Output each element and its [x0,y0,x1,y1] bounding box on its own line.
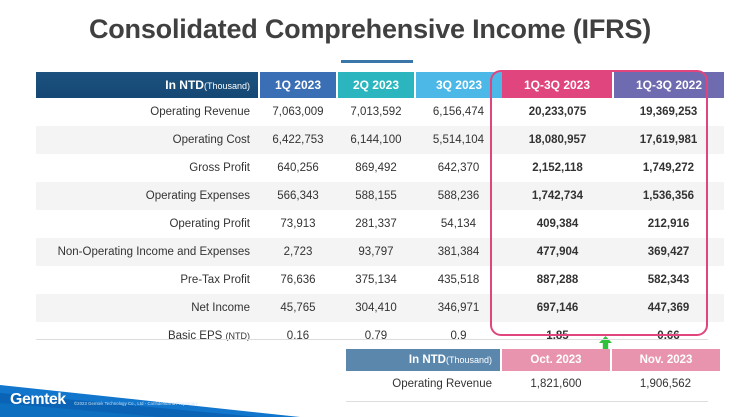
cell-non-operating-1q3q2022: 369,427 [613,238,724,266]
cell-net-income-2q2023: 304,410 [337,294,415,322]
table-row: Operating Revenue 7,063,009 7,013,592 6,… [36,98,724,126]
cell-non-operating-1q3q2023: 477,904 [502,238,613,266]
table-row: Operating Cost 6,422,753 6,144,100 5,514… [36,126,724,154]
month-header-in-ntd-label: In NTD [409,354,446,366]
cell-basic-eps-1q3q2023-value: 1.85 [546,330,568,342]
table-row: Non-Operating Income and Expenses 2,723 … [36,238,724,266]
row-label-net-income: Net Income [36,294,259,322]
cell-operating-revenue-1q3q2022: 19,369,253 [613,98,724,126]
month-header-in-ntd-unit: (Thousand) [446,355,492,365]
table-row: Basic EPS (NTD) 0.16 0.79 0.9 1.85 0.66 [36,322,724,350]
cell-operating-profit-2q2023: 281,337 [337,210,415,238]
table-bottom-divider [36,339,708,340]
cell-operating-expenses-1q3q2022: 1,536,356 [613,182,724,210]
cell-non-operating-2q2023: 93,797 [337,238,415,266]
cell-operating-cost-3q2023: 5,514,104 [415,126,502,154]
table-row: Operating Expenses 566,343 588,155 588,2… [36,182,724,210]
cell-operating-profit-1q3q2022: 212,916 [613,210,724,238]
copyright-text: ©2023 Gemtek Technology Co., Ltd - Confi… [74,401,198,406]
cell-operating-revenue-2q2023: 7,013,592 [337,98,415,126]
cell-gross-profit-1q3q2023: 2,152,118 [502,154,613,182]
cell-pre-tax-profit-1q2023: 76,636 [259,266,337,294]
cell-operating-revenue-nov-2023: 1,906,562 [611,371,720,397]
table-row: Operating Profit 73,913 281,337 54,134 4… [36,210,724,238]
table-header-row: In NTD(Thousand) 1Q 2023 2Q 2023 3Q 2023… [36,72,724,98]
row-label-pre-tax-profit: Pre-Tax Profit [36,266,259,294]
cell-basic-eps-1q2023: 0.16 [259,322,337,350]
header-cell-in-ntd: In NTD(Thousand) [36,72,259,98]
cell-net-income-3q2023: 346,971 [415,294,502,322]
cell-operating-revenue-1q2023: 7,063,009 [259,98,337,126]
monthly-revenue-table: In NTD(Thousand) Oct. 2023 Nov. 2023 Ope… [346,349,720,397]
cell-operating-revenue-oct-2023: 1,821,600 [501,371,611,397]
cell-gross-profit-3q2023: 642,370 [415,154,502,182]
cell-non-operating-1q2023: 2,723 [259,238,337,266]
cell-basic-eps-1q3q2023: 1.85 [502,322,613,350]
row-label-operating-profit: Operating Profit [36,210,259,238]
month-header-cell-nov-2023: Nov. 2023 [611,349,720,371]
row-label-operating-revenue: Operating Revenue [36,98,259,126]
table-row: Gross Profit 640,256 869,492 642,370 2,1… [36,154,724,182]
month-header-row: In NTD(Thousand) Oct. 2023 Nov. 2023 [346,349,720,371]
month-header-cell-in-ntd: In NTD(Thousand) [346,349,501,371]
cell-operating-profit-1q3q2023: 409,384 [502,210,613,238]
cell-operating-cost-1q2023: 6,422,753 [259,126,337,154]
cell-net-income-1q3q2023: 697,146 [502,294,613,322]
cell-operating-cost-1q3q2023: 18,080,957 [502,126,613,154]
row-label-basic-eps: Basic EPS (NTD) [36,322,259,350]
cell-gross-profit-1q3q2022: 1,749,272 [613,154,724,182]
header-cell-2q-2023: 2Q 2023 [337,72,415,98]
month-table-row: Operating Revenue 1,821,600 1,906,562 [346,371,720,397]
cell-operating-expenses-3q2023: 588,236 [415,182,502,210]
page-title: Consolidated Comprehensive Income (IFRS) [0,14,740,45]
row-label-gross-profit: Gross Profit [36,154,259,182]
cell-basic-eps-3q2023: 0.9 [415,322,502,350]
table-row: Net Income 45,765 304,410 346,971 697,14… [36,294,724,322]
cell-net-income-1q2023: 45,765 [259,294,337,322]
cell-operating-cost-1q3q2022: 17,619,981 [613,126,724,154]
month-row-label-operating-revenue: Operating Revenue [346,371,501,397]
cell-operating-cost-2q2023: 6,144,100 [337,126,415,154]
header-cell-1q3q-2022: 1Q-3Q 2022 [613,72,724,98]
header-in-ntd-unit: (Thousand) [204,81,250,91]
cell-pre-tax-profit-2q2023: 375,134 [337,266,415,294]
header-cell-3q-2023: 3Q 2023 [415,72,502,98]
cell-gross-profit-1q2023: 640,256 [259,154,337,182]
cell-gross-profit-2q2023: 869,492 [337,154,415,182]
consolidated-income-table: In NTD(Thousand) 1Q 2023 2Q 2023 3Q 2023… [36,72,724,350]
header-in-ntd-label: In NTD [165,78,204,92]
cell-pre-tax-profit-1q3q2023: 887,288 [502,266,613,294]
cell-basic-eps-1q3q2022: 0.66 [613,322,724,350]
row-label-basic-eps-text: Basic EPS [168,330,222,342]
cell-operating-expenses-1q3q2023: 1,742,734 [502,182,613,210]
row-label-operating-expenses: Operating Expenses [36,182,259,210]
gemtek-logo: Gemtek [10,391,66,409]
month-table-bottom-divider [346,401,708,402]
header-cell-1q3q-2023: 1Q-3Q 2023 [502,72,613,98]
cell-operating-profit-1q2023: 73,913 [259,210,337,238]
cell-basic-eps-2q2023: 0.79 [337,322,415,350]
row-label-operating-cost: Operating Cost [36,126,259,154]
cell-operating-revenue-3q2023: 6,156,474 [415,98,502,126]
row-label-non-operating-income-and-expenses: Non-Operating Income and Expenses [36,238,259,266]
title-accent-line [341,60,413,63]
header-cell-1q-2023: 1Q 2023 [259,72,337,98]
cell-operating-expenses-2q2023: 588,155 [337,182,415,210]
cell-net-income-1q3q2022: 447,369 [613,294,724,322]
month-header-cell-oct-2023: Oct. 2023 [501,349,611,371]
cell-operating-profit-3q2023: 54,134 [415,210,502,238]
cell-pre-tax-profit-3q2023: 435,518 [415,266,502,294]
table-row: Pre-Tax Profit 76,636 375,134 435,518 88… [36,266,724,294]
cell-non-operating-3q2023: 381,384 [415,238,502,266]
cell-operating-revenue-1q3q2023: 20,233,075 [502,98,613,126]
cell-pre-tax-profit-1q3q2022: 582,343 [613,266,724,294]
cell-operating-expenses-1q2023: 566,343 [259,182,337,210]
